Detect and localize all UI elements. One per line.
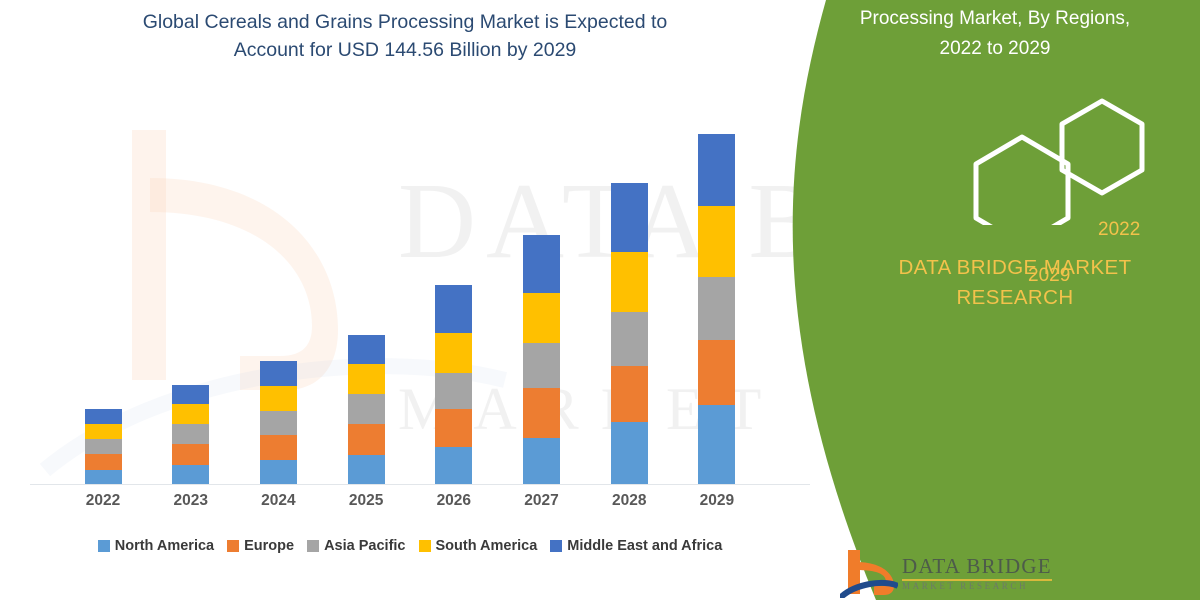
bar-segment: [435, 285, 472, 333]
bar-segment: [435, 373, 472, 409]
chart-plot-area: [40, 100, 780, 484]
bar-segment: [698, 206, 735, 277]
bar-segment: [523, 343, 560, 388]
stacked-bar[interactable]: [85, 409, 122, 484]
bar-segment: [85, 470, 122, 484]
bar-segment: [260, 386, 297, 411]
x-axis-label-2026: 2026: [419, 492, 489, 520]
bar-segment: [172, 465, 209, 484]
bar-segment: [260, 361, 297, 386]
bar-segment: [85, 454, 122, 470]
bar-column-2026: [419, 285, 489, 484]
stacked-bar[interactable]: [523, 235, 560, 484]
green-side-panel: Processing Market, By Regions, 2022 to 2…: [780, 0, 1200, 600]
bar-segment: [611, 366, 648, 422]
bar-segment: [85, 439, 122, 454]
legend-item-europe[interactable]: Europe: [227, 538, 294, 554]
x-axis-label-2025: 2025: [331, 492, 401, 520]
stacked-bar[interactable]: [611, 183, 648, 484]
legend-label: Asia Pacific: [324, 538, 405, 554]
stacked-bar[interactable]: [172, 385, 209, 484]
legend-item-middle-east-and-africa[interactable]: Middle East and Africa: [550, 538, 722, 554]
bar-segment: [172, 404, 209, 424]
bar-segment: [85, 409, 122, 424]
legend-label: North America: [115, 538, 214, 554]
legend-item-asia-pacific[interactable]: Asia Pacific: [307, 538, 405, 554]
chart-legend: North AmericaEuropeAsia PacificSouth Ame…: [40, 538, 780, 554]
x-axis-label-2029: 2029: [682, 492, 752, 520]
infographic-canvas: DATA BR MARKET RESEARCH Global Cereals a…: [0, 0, 1200, 600]
bar-segment: [435, 409, 472, 447]
legend-item-south-america[interactable]: South America: [419, 538, 538, 554]
x-axis-label-2027: 2027: [507, 492, 577, 520]
legend-swatch-icon: [307, 540, 319, 552]
page-title-line2: Account for USD 144.56 Billion by 2029: [60, 36, 750, 64]
legend-label: Europe: [244, 538, 294, 554]
legend-swatch-icon: [419, 540, 431, 552]
green-panel-heading: Processing Market, By Regions, 2022 to 2…: [800, 4, 1190, 64]
bar-segment: [348, 394, 385, 424]
stacked-bar[interactable]: [435, 285, 472, 484]
bar-column-2023: [156, 385, 226, 484]
bar-column-2025: [331, 335, 401, 484]
hexagon-group: 2022 2029: [890, 95, 1190, 225]
green-panel-heading-line2: 2022 to 2029: [800, 34, 1190, 64]
bar-segment: [260, 460, 297, 484]
hexagon-outlines-icon: [890, 95, 1190, 225]
bar-segment: [172, 424, 209, 444]
legend-label: South America: [436, 538, 538, 554]
bar-segment: [348, 455, 385, 484]
x-axis-label-2023: 2023: [156, 492, 226, 520]
bar-segment: [611, 252, 648, 312]
logo-subtitle: MARKET RESEARCH: [902, 581, 1028, 591]
logo-title: DATA BRIDGE: [902, 554, 1052, 579]
bar-segment: [611, 312, 648, 366]
bar-segment: [611, 422, 648, 484]
x-axis-line: [30, 484, 810, 485]
bar-segment: [348, 364, 385, 394]
bar-segment: [523, 438, 560, 484]
bar-segment: [698, 277, 735, 340]
green-panel-heading-line1: Processing Market, By Regions,: [800, 4, 1190, 34]
bar-segment: [435, 333, 472, 373]
legend-swatch-icon: [227, 540, 239, 552]
green-panel-brand: DATA BRIDGE MARKET RESEARCH: [850, 253, 1180, 313]
bar-segment: [172, 444, 209, 465]
databridge-bridge-icon: [840, 548, 898, 598]
bar-segment: [523, 293, 560, 343]
bar-segment: [698, 340, 735, 405]
bar-segment: [260, 435, 297, 460]
bar-segment: [172, 385, 209, 404]
legend-label: Middle East and Africa: [567, 538, 722, 554]
bar-segment: [348, 424, 385, 455]
bar-segment: [523, 235, 560, 293]
stacked-bar-chart: [0, 100, 800, 500]
bar-segment: [698, 134, 735, 206]
legend-item-north-america[interactable]: North America: [98, 538, 214, 554]
page-title-line1: Global Cereals and Grains Processing Mar…: [60, 8, 750, 36]
bar-column-2022: [68, 409, 138, 484]
bar-segment: [260, 411, 297, 435]
bar-column-2027: [507, 235, 577, 484]
stacked-bar[interactable]: [260, 361, 297, 484]
bar-segment: [611, 183, 648, 252]
bar-segment: [348, 335, 385, 364]
bar-segment: [435, 447, 472, 484]
bar-segment: [85, 424, 122, 439]
stacked-bar[interactable]: [348, 335, 385, 484]
bar-column-2029: [682, 134, 752, 484]
x-axis-label-2024: 2024: [243, 492, 313, 520]
x-axis-labels: 20222023202420252026202720282029: [40, 492, 780, 520]
legend-swatch-icon: [550, 540, 562, 552]
bar-segment: [698, 405, 735, 484]
legend-swatch-icon: [98, 540, 110, 552]
databridge-logo: DATA BRIDGE MARKET RESEARCH: [840, 548, 1090, 600]
green-panel-brand-line2: RESEARCH: [850, 283, 1180, 313]
green-panel-brand-line1: DATA BRIDGE MARKET: [850, 253, 1180, 283]
hex-2022-label: 2022: [1098, 219, 1140, 241]
x-axis-label-2022: 2022: [68, 492, 138, 520]
bar-column-2024: [243, 361, 313, 484]
page-title: Global Cereals and Grains Processing Mar…: [60, 8, 750, 64]
bar-segment: [523, 388, 560, 438]
x-axis-label-2028: 2028: [594, 492, 664, 520]
stacked-bar[interactable]: [698, 134, 735, 484]
bar-column-2028: [594, 183, 664, 484]
